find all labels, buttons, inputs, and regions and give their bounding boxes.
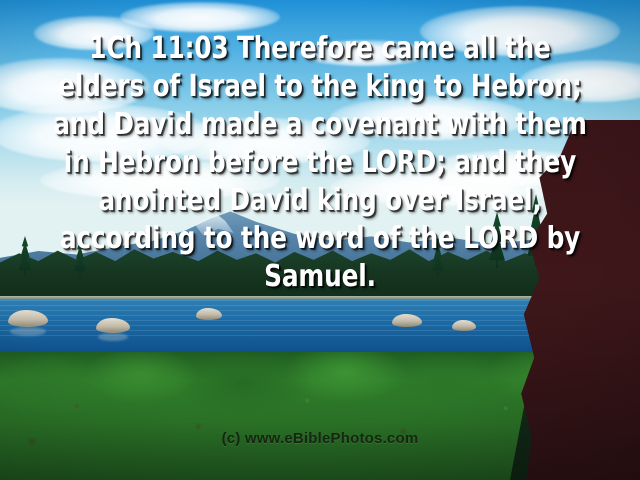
rock-reflection xyxy=(98,333,128,341)
lake-rock xyxy=(8,310,48,327)
lake-rock xyxy=(452,320,476,331)
lake-rock xyxy=(196,308,222,320)
verse-line: elders of Israel to the king to Hebron; xyxy=(38,68,601,106)
rock-reflection xyxy=(10,327,46,336)
verse-text-block: 1Ch 11:03 Therefore came all the elders … xyxy=(0,30,640,296)
lake-rock xyxy=(96,318,130,333)
lake-rock xyxy=(392,314,422,327)
verse-line: anointed David king over Israel, xyxy=(38,182,601,220)
verse-line: and David made a covenant with them xyxy=(38,106,601,144)
verse-line: in Hebron before the LORD; and they xyxy=(38,144,601,182)
verse-image: 1Ch 11:03 Therefore came all the elders … xyxy=(0,0,640,480)
verse-line: 1Ch 11:03 Therefore came all the xyxy=(38,30,601,68)
watermark-credit: (c) www.eBiblePhotos.com xyxy=(0,430,640,447)
verse-line: Samuel. xyxy=(38,258,601,296)
cloud-shape xyxy=(120,2,280,32)
verse-line: according to the word of the LORD by xyxy=(38,220,601,258)
